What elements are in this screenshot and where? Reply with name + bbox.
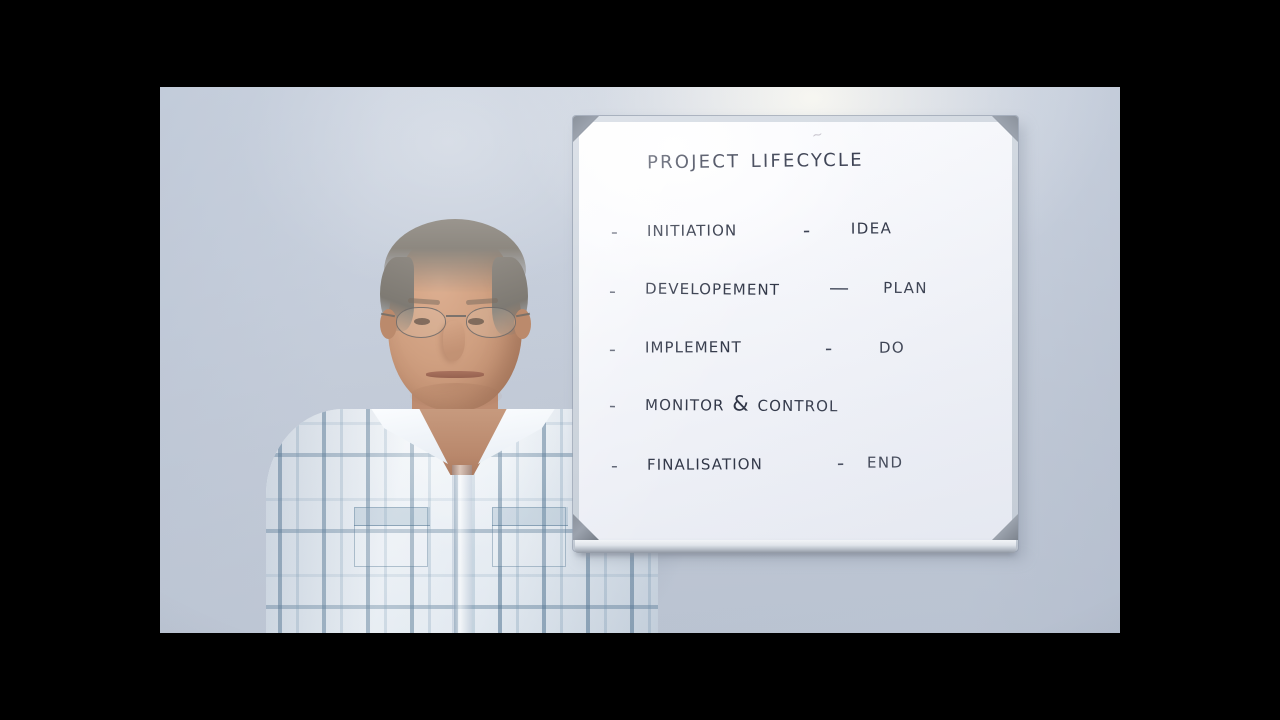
whiteboard-list-item: - Developement — Plan	[579, 270, 1012, 332]
list-item-value: Idea	[851, 214, 892, 238]
list-bullet: -	[609, 339, 616, 361]
whiteboard-list-item: - Finalisation - End	[579, 445, 1012, 505]
nose	[443, 321, 465, 361]
list-item-dash: -	[825, 336, 832, 360]
list-item-dash: —	[829, 275, 849, 299]
list-bullet: -	[609, 280, 616, 302]
list-item-value: End	[867, 448, 904, 472]
shirt-pocket-flap-left	[354, 507, 430, 526]
whiteboard-pen-tray-shadow	[581, 552, 1010, 557]
list-item-term: Initiation	[647, 216, 738, 241]
list-item-value: Do	[879, 334, 905, 358]
chin-shading	[410, 383, 502, 409]
list-item-dash: -	[837, 451, 844, 475]
mouth	[426, 371, 484, 378]
whiteboard-list-item: - Initiation - Idea	[579, 212, 1012, 273]
video-letterbox-stage: ~ Project Lifecycle - Initiation - Idea …	[0, 0, 1280, 720]
list-item-term: Developement	[645, 275, 780, 300]
list-item-term: Implement	[645, 333, 742, 357]
list-item-dash: -	[803, 218, 810, 242]
shirt-pocket-right	[492, 507, 566, 567]
shirt-pocket-left	[354, 507, 428, 567]
whiteboard: ~ Project Lifecycle - Initiation - Idea …	[573, 116, 1018, 551]
list-item-term: Finalisation	[647, 450, 763, 475]
whiteboard-list-item: - Implement - Do	[579, 329, 1012, 389]
glasses-lens-left	[396, 307, 446, 338]
list-bullet: -	[611, 455, 618, 477]
whiteboard-list: - Initiation - Idea - Developement — Pla…	[579, 214, 1012, 504]
whiteboard-list-item: - Monitor & Control	[579, 386, 1012, 447]
video-frame: ~ Project Lifecycle - Initiation - Idea …	[160, 87, 1120, 633]
shirt-pocket-flap-right	[492, 507, 568, 526]
list-bullet: -	[611, 221, 618, 243]
whiteboard-writing: ~ Project Lifecycle - Initiation - Idea …	[579, 122, 1012, 540]
list-bullet: -	[609, 395, 616, 417]
list-item-value: Plan	[883, 274, 928, 298]
shirt-button-placket	[452, 465, 472, 633]
whiteboard-title: Project Lifecycle	[647, 143, 864, 176]
erased-smudge-mark: ~	[811, 127, 824, 144]
glasses-lens-right	[466, 307, 516, 338]
glasses-bridge	[446, 315, 466, 317]
list-item-term: Monitor & Control	[645, 391, 839, 416]
